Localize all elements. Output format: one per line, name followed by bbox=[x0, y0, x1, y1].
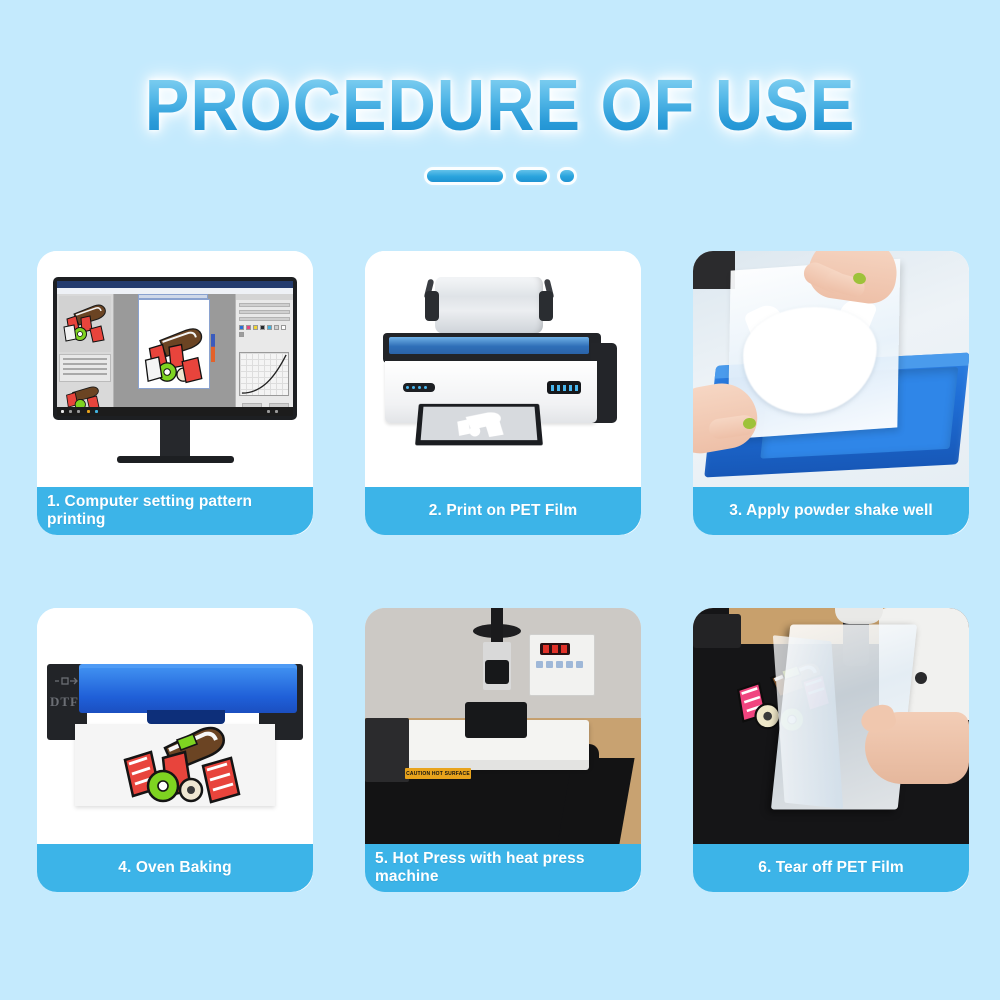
step-6-caption: 6. Tear off PET Film bbox=[693, 844, 969, 892]
roll-holder-right bbox=[539, 291, 553, 321]
step-1-caption: 1. Computer setting pattern printing bbox=[37, 487, 313, 535]
press-control-panel[interactable] bbox=[529, 634, 595, 696]
steps-grid: 1. Computer setting pattern printing bbox=[37, 251, 969, 892]
rock-artwork-printed bbox=[75, 724, 275, 806]
roll-holder-left bbox=[425, 291, 439, 321]
step-2-caption: 2. Print on PET Film bbox=[365, 487, 641, 535]
oven-blue-lid bbox=[79, 668, 297, 713]
step-5-caption: 5. Hot Press with heat press machine bbox=[365, 844, 641, 892]
ink-level-strip bbox=[211, 334, 215, 362]
background-dark-edge bbox=[693, 251, 735, 289]
page-title: PROCEDURE OF USE bbox=[145, 70, 856, 142]
step-4-caption: 4. Oven Baking bbox=[37, 844, 313, 892]
printed-white-ink-artwork bbox=[447, 411, 516, 437]
divider-dot bbox=[560, 170, 574, 182]
oven-output-slot bbox=[147, 710, 225, 724]
color-swatches[interactable] bbox=[239, 325, 290, 337]
printer-button-panel[interactable] bbox=[403, 383, 435, 392]
press-top-cap bbox=[835, 608, 883, 624]
press-keypad[interactable] bbox=[536, 661, 583, 668]
step-3-caption: 3. Apply powder shake well bbox=[693, 487, 969, 535]
step-6-caption-text: 6. Tear off PET Film bbox=[693, 859, 969, 877]
monitor-stand-neck bbox=[160, 420, 190, 456]
monitor-stand-base bbox=[117, 456, 234, 463]
step-card-2[interactable]: 2. Print on PET Film bbox=[365, 251, 641, 535]
infographic-page: PROCEDURE OF USE bbox=[0, 0, 1000, 1000]
pet-film-fold bbox=[773, 635, 843, 809]
design-canvas bbox=[138, 299, 210, 389]
tone-curve-line bbox=[240, 353, 288, 395]
divider-short-bar bbox=[516, 170, 547, 182]
oven-brand-label: DTF bbox=[50, 694, 79, 710]
step-card-4[interactable]: DTF bbox=[37, 608, 313, 892]
step-card-1[interactable]: 1. Computer setting pattern printing bbox=[37, 251, 313, 535]
divider-long-bar bbox=[427, 170, 503, 182]
page-header: PROCEDURE OF USE bbox=[0, 70, 1000, 142]
step-3-caption-text: 3. Apply powder shake well bbox=[693, 502, 969, 520]
rock-artwork-canvas bbox=[139, 314, 207, 400]
file-info-panel bbox=[59, 354, 111, 382]
step-3-image bbox=[693, 251, 969, 487]
pet-film-roll bbox=[435, 277, 543, 333]
press-knob bbox=[915, 672, 927, 684]
rock-artwork-thumbnail bbox=[59, 296, 111, 352]
printer-output-tray bbox=[415, 404, 543, 445]
step-6-image bbox=[693, 608, 969, 844]
press-base-box bbox=[365, 718, 409, 782]
baked-transfer-sheet bbox=[75, 724, 275, 806]
printer-display bbox=[547, 381, 581, 394]
press-upper-heating-plate bbox=[465, 702, 527, 738]
press-temperature-readout bbox=[540, 643, 570, 655]
title-divider bbox=[0, 170, 1000, 182]
computer-monitor bbox=[53, 277, 297, 420]
step-5-image: CAUTION HOT SURFACE bbox=[365, 608, 641, 844]
step-2-image bbox=[365, 251, 641, 487]
step-4-image: DTF bbox=[37, 608, 313, 844]
printer-blue-lid bbox=[389, 337, 589, 354]
tool-panel bbox=[235, 294, 293, 407]
step-card-3[interactable]: 3. Apply powder shake well bbox=[693, 251, 969, 535]
step-4-caption-text: 4. Oven Baking bbox=[37, 859, 313, 877]
step-1-image bbox=[37, 251, 313, 487]
tone-curve-editor[interactable] bbox=[239, 352, 289, 396]
equipment-black-box bbox=[693, 614, 741, 648]
monitor-screen bbox=[57, 281, 293, 416]
press-pressure-joint bbox=[485, 660, 509, 684]
step-card-5[interactable]: CAUTION HOT SURFACE 5. Hot Press with he… bbox=[365, 608, 641, 892]
step-card-6[interactable]: 6. Tear off PET Film bbox=[693, 608, 969, 892]
step-1-caption-text: 1. Computer setting pattern printing bbox=[37, 493, 313, 529]
feed-direction-icon bbox=[54, 676, 80, 686]
caution-hot-surface-label: CAUTION HOT SURFACE bbox=[405, 768, 471, 779]
step-5-caption-text: 5. Hot Press with heat press machine bbox=[365, 850, 641, 886]
windows-taskbar[interactable] bbox=[57, 407, 293, 416]
step-2-caption-text: 2. Print on PET Film bbox=[365, 502, 641, 520]
